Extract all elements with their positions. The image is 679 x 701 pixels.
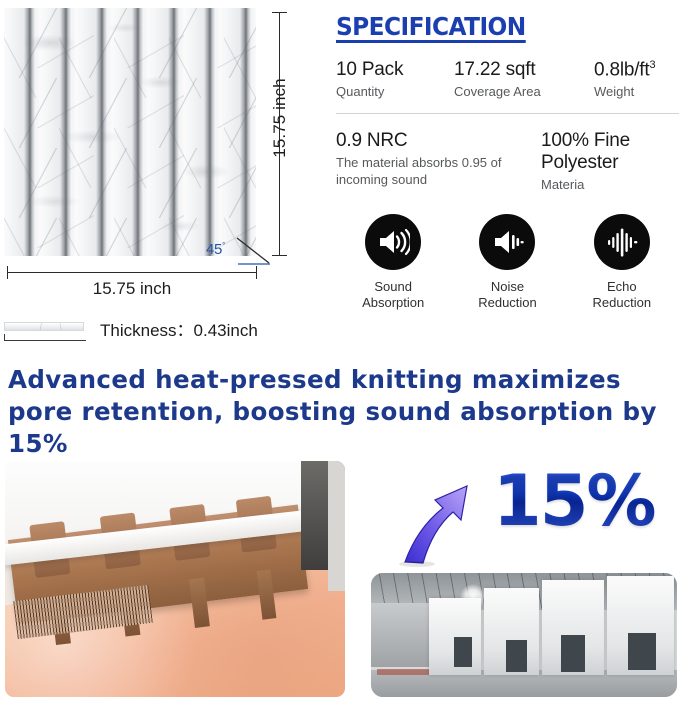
machine-window [561, 635, 585, 672]
thickness-row: Thickness：0.43inch [4, 318, 294, 352]
spec-label: Materia [541, 177, 679, 194]
spec-value: 0.9 NRC [336, 130, 541, 152]
specification-title: SPECIFICATION [336, 14, 526, 43]
spec-label: Weight [594, 84, 673, 101]
width-cap-right [256, 266, 257, 279]
height-label: 15.75 inch [270, 63, 290, 173]
spec-item-nrc: 0.9 NRC The material absorbs 0.95 of inc… [336, 130, 541, 194]
percent-highlight: 15% [395, 466, 670, 566]
headline-text: Advanced heat-pressed knitting maximizes… [8, 364, 660, 460]
thickness-sample-strip [4, 322, 84, 331]
thickness-bracket [4, 334, 86, 342]
factory-floor-photo [371, 573, 677, 697]
spec-row-primary: 10 Pack Quantity 17.22 sqft Coverage Are… [336, 43, 679, 101]
spec-value: 17.22 sqft [454, 59, 588, 81]
machine-window [454, 637, 472, 667]
feature-echo-reduction: Echo Reduction [565, 214, 679, 312]
spec-item-coverage-area: 17.22 sqft Coverage Area [454, 59, 594, 101]
up-arrow-icon [395, 468, 491, 568]
angle-label: 45° [206, 241, 225, 258]
caption-line-1: Echo [607, 279, 637, 294]
feature-icon-row: Sound Absorption Noise Reduction [336, 214, 679, 312]
spec-label: Quantity [336, 84, 448, 101]
machine-window [628, 633, 656, 670]
width-line [7, 272, 257, 273]
width-label: 15.75 inch [4, 279, 260, 299]
feature-caption: Sound Absorption [362, 279, 424, 312]
spec-row-secondary: 0.9 NRC The material absorbs 0.95 of inc… [336, 113, 679, 194]
height-dimension: 15.75 inch [268, 8, 302, 260]
angle-marker: 45° [206, 236, 272, 270]
speaker-mute-icon [479, 214, 535, 270]
spec-item-material: 100% Fine Polyester Materia [541, 130, 679, 194]
thickness-bracket-bottom [4, 340, 86, 341]
caption-line-2: Reduction [478, 295, 537, 310]
spec-value: 10 Pack [336, 59, 448, 81]
product-infographic: 45° 15.75 inch 15.75 inch Thickness： [0, 0, 679, 701]
thickness-label: Thickness：0.43inch [100, 316, 258, 341]
photo-side-edge [328, 461, 345, 591]
waveform-icon [594, 214, 650, 270]
spec-value: 100% Fine Polyester [541, 130, 679, 174]
speaker-waves-icon [365, 214, 421, 270]
width-dimension: 15.75 inch [4, 266, 260, 306]
panel-dimension-diagram: 45° 15.75 inch 15.75 inch Thickness： [0, 8, 300, 348]
fluted-acoustic-panel-image [4, 8, 256, 256]
machine-window [506, 640, 527, 672]
knitting-machine-photo [5, 461, 345, 697]
feature-caption: Echo Reduction [593, 279, 652, 312]
spec-label: The material absorbs 0.95 of incoming so… [336, 155, 541, 189]
caption-line-2: Absorption [362, 295, 424, 310]
feature-noise-reduction: Noise Reduction [450, 214, 564, 312]
angle-triangle-icon [236, 236, 272, 268]
percent-value: 15% [493, 466, 655, 536]
spec-item-weight: 0.8lb/ft3 Weight [594, 59, 679, 101]
feature-sound-absorption: Sound Absorption [336, 214, 450, 312]
feature-caption: Noise Reduction [478, 279, 537, 312]
spec-label: Coverage Area [454, 84, 588, 101]
caption-line-1: Sound [374, 279, 412, 294]
height-cap-bottom [272, 255, 287, 256]
caption-line-2: Reduction [593, 295, 652, 310]
spec-item-quantity: 10 Pack Quantity [336, 59, 454, 101]
specification-section: SPECIFICATION 10 Pack Quantity 17.22 sqf… [336, 14, 679, 194]
spec-value: 0.8lb/ft3 [594, 59, 673, 81]
spec-value-superscript: 3 [649, 59, 655, 71]
caption-line-1: Noise [491, 279, 524, 294]
